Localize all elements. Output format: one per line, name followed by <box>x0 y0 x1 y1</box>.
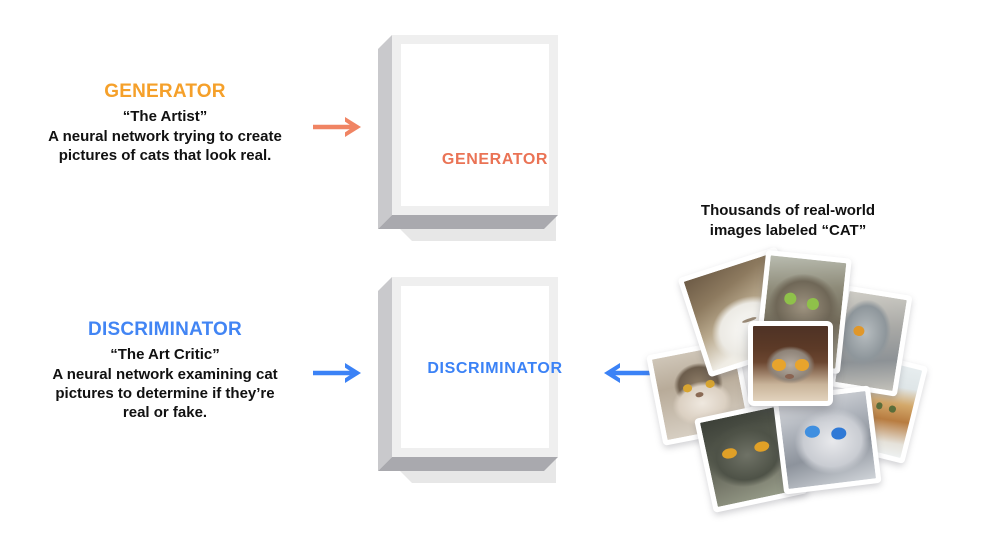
generator-heading: GENERATOR <box>40 80 290 104</box>
discriminator-box: DISCRIMINATOR <box>378 275 590 497</box>
dataset-caption-line1: Thousands of real-world <box>701 202 875 219</box>
generator-box-graphic <box>378 33 590 255</box>
dataset-caption: Thousands of real-world images labeled “… <box>664 201 912 241</box>
generator-box-label: GENERATOR <box>400 151 590 169</box>
dataset-photo-collage <box>655 258 907 500</box>
discriminator-box-label: DISCRIMINATOR <box>400 360 590 378</box>
generator-nickname: “The Artist” <box>40 107 290 126</box>
diagram-canvas: GENERATOR “The Artist” A neural network … <box>0 0 982 549</box>
generator-description-block: GENERATOR “The Artist” A neural network … <box>40 80 290 165</box>
discriminator-nickname: “The Art Critic” <box>40 345 290 364</box>
generator-description: A neural network trying to create pictur… <box>40 127 290 165</box>
cat-eyes <box>753 326 828 401</box>
generator-arrow-right-icon <box>311 114 367 145</box>
discriminator-description: A neural network examining cat pictures … <box>40 365 290 422</box>
dataset-arrow-left-icon <box>598 360 654 391</box>
discriminator-box-graphic <box>378 275 590 497</box>
dataset-caption-line2: images labeled “CAT” <box>710 222 866 239</box>
cat-photo-under-blanket <box>748 321 833 406</box>
discriminator-description-block: DISCRIMINATOR “The Art Critic” A neural … <box>40 318 290 422</box>
generator-box: GENERATOR <box>378 33 590 255</box>
discriminator-arrow-right-icon <box>311 360 367 391</box>
discriminator-heading: DISCRIMINATOR <box>40 318 290 342</box>
